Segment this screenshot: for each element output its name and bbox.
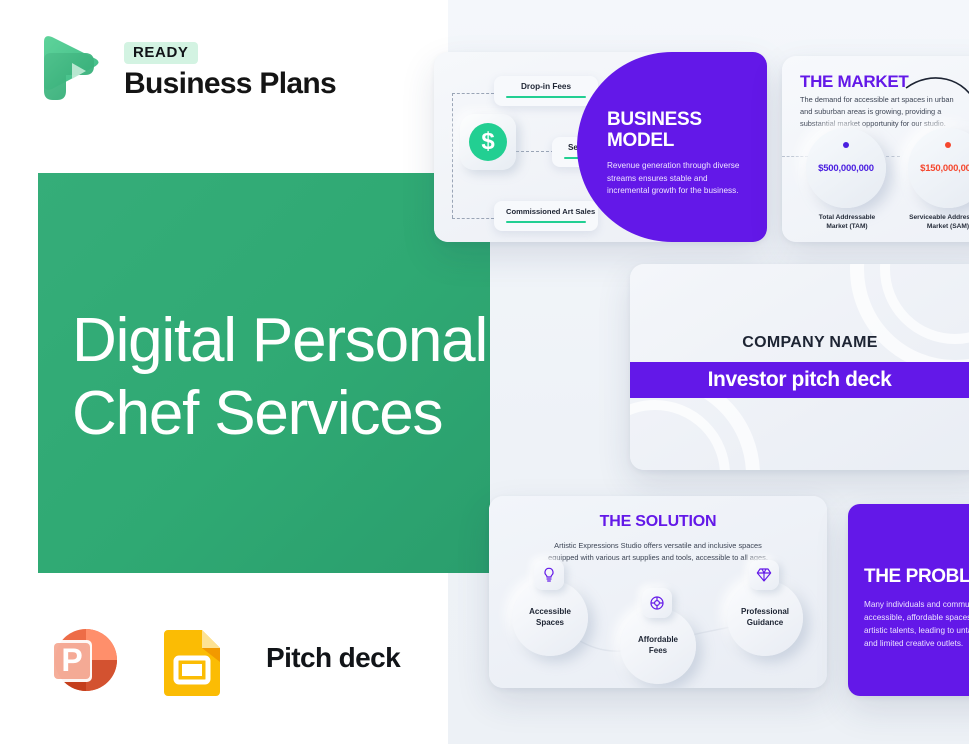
market-metric-0-value: $500,000,000 xyxy=(818,163,874,174)
revenue-item-2-label: Commissioned Art Sales xyxy=(506,207,586,216)
solution-node-1-label: Affordable Fees xyxy=(638,635,678,657)
connector-bottom xyxy=(452,218,494,219)
solution-node-0-label: Accessible Spaces xyxy=(529,607,571,629)
market-metric-1-dot xyxy=(945,142,951,148)
slide-card-solution[interactable]: THE SOLUTION Artistic Expressions Studio… xyxy=(489,496,827,688)
slide-card-problem[interactable]: THE PROBLEM Many individuals and communi… xyxy=(848,504,969,696)
market-metric-0[interactable]: $500,000,000 xyxy=(806,128,886,208)
lightbulb-icon xyxy=(534,560,564,590)
revenue-item-0-label: Drop-in Fees xyxy=(506,82,586,91)
connector-middle xyxy=(516,151,554,152)
powerpoint-icon[interactable]: P xyxy=(38,614,126,702)
svg-text:P: P xyxy=(61,642,82,678)
format-badges: P Pitch deck xyxy=(38,614,400,702)
slide-card-business-model[interactable]: $ Drop-in Fees Session Workshops Commiss… xyxy=(434,52,767,242)
revenue-item-2-bar xyxy=(506,221,586,223)
pitch-deck-label: Pitch deck xyxy=(266,642,400,674)
solution-title: THE SOLUTION xyxy=(489,513,827,531)
business-model-panel: BUSINESS MODEL Revenue generation throug… xyxy=(577,52,767,242)
business-model-title-line1: BUSINESS xyxy=(607,110,702,131)
revenue-item-2[interactable]: Commissioned Art Sales xyxy=(494,201,598,231)
slide-card-market[interactable]: THE MARKET The demand for accessible art… xyxy=(782,56,969,242)
hero-title: Digital Personal Chef Services xyxy=(72,305,542,450)
hero-title-line2: Chef Services xyxy=(72,378,542,451)
investor-pitch-label: Investor pitch deck xyxy=(708,368,892,392)
diamond-icon xyxy=(749,560,779,590)
solution-node-0[interactable]: Accessible Spaces xyxy=(512,580,588,656)
revenue-item-0[interactable]: Drop-in Fees xyxy=(494,76,598,106)
hero-title-line1: Digital Personal xyxy=(72,305,542,378)
problem-title: THE PROBLEM xyxy=(864,566,969,588)
connector-vertical xyxy=(452,93,453,218)
play-triangle-logo-icon xyxy=(38,32,110,110)
solution-body: Artistic Expressions Studio offers versa… xyxy=(539,540,777,564)
market-metric-0-dot xyxy=(843,142,849,148)
revenue-item-0-bar xyxy=(506,96,586,98)
market-dash-left xyxy=(782,156,808,157)
dollar-sign-icon: $ xyxy=(460,114,516,170)
market-metric-1-value: $150,000,000 xyxy=(920,163,969,174)
connector-top xyxy=(452,93,494,94)
business-model-body: Revenue generation through diverse strea… xyxy=(607,160,752,198)
solution-node-2[interactable]: Professional Guidance xyxy=(727,580,803,656)
market-metric-0-caption: Total Addressable Market (TAM) xyxy=(801,214,893,232)
solution-node-2-label: Professional Guidance xyxy=(741,607,789,629)
life-ring-icon xyxy=(642,588,672,618)
brand-name: Business Plans xyxy=(124,68,336,100)
problem-body: Many individuals and communities lack ac… xyxy=(864,598,969,651)
google-slides-icon[interactable] xyxy=(148,614,236,702)
business-model-title-line2: MODEL xyxy=(607,131,702,152)
market-metric-1-caption: Serviceable Addressable Market (SAM) xyxy=(902,214,969,232)
business-model-title: BUSINESS MODEL xyxy=(607,110,702,152)
brand-logo[interactable]: READY Business Plans xyxy=(38,32,336,110)
investor-pitch-bar: Investor pitch deck xyxy=(630,362,969,398)
poster-canvas: READY Business Plans Digital Personal Ch… xyxy=(0,0,969,744)
ready-badge: READY xyxy=(124,42,198,64)
solution-node-1[interactable]: Affordable Fees xyxy=(620,608,696,684)
market-dash-mid xyxy=(886,156,900,157)
market-title: THE MARKET xyxy=(800,72,908,92)
curved-arrow-icon xyxy=(904,72,969,120)
company-name: COMPANY NAME xyxy=(630,334,969,352)
brand-text: READY Business Plans xyxy=(124,42,336,100)
